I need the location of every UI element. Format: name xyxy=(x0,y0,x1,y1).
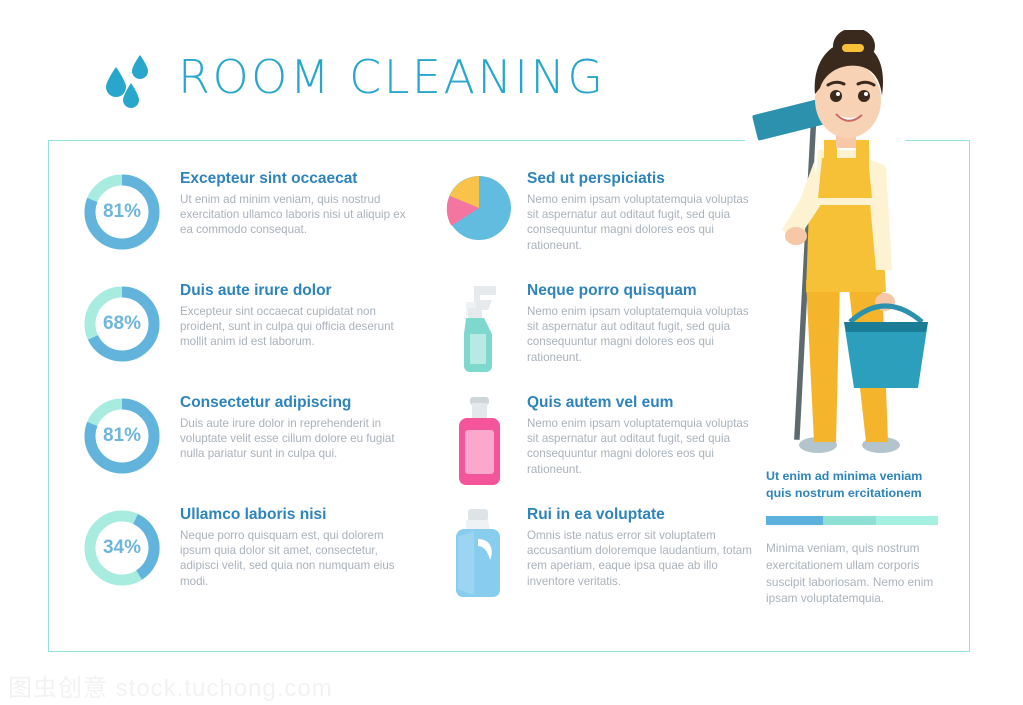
list-item-title: Excepteur sint occaecat xyxy=(180,170,412,188)
water-droplets-icon xyxy=(102,53,158,113)
list-item-description: Ut enim ad minim veniam, quis nostrud ex… xyxy=(180,192,412,238)
list-item-description: Excepteur sint occaecat cupidatat non pr… xyxy=(180,304,412,350)
list-item[interactable]: 34% Ullamco laboris nisi Neque porro qui… xyxy=(80,506,410,618)
list-item-title: Neque porro quisquam xyxy=(527,282,753,300)
list-item-body: Quis autem vel eum Nemo enim ipsam volup… xyxy=(527,394,753,477)
progress-bar xyxy=(766,516,938,525)
list-item-body: Rui in ea voluptate Omnis iste natus err… xyxy=(527,506,753,589)
list-item-description: Nemo enim ipsam voluptatemquia voluptas … xyxy=(527,192,753,253)
list-item-description: Omnis iste natus error sit voluptatem ac… xyxy=(527,528,753,589)
infographic-canvas: ROOM CLEANING 81% Excepteur sint occaeca… xyxy=(0,0,1023,705)
progress-segment-2 xyxy=(823,516,876,525)
donut-percent-value: 81% xyxy=(80,394,164,478)
donut-percent-value: 34% xyxy=(80,506,164,590)
donut-chart-icon: 34% xyxy=(80,506,164,598)
donut-chart-icon: 68% xyxy=(80,282,164,374)
cleaning-woman-with-squeegee-and-bucket-icon xyxy=(740,30,955,460)
list-item[interactable]: 68% Duis aute irure dolor Excepteur sint… xyxy=(80,282,410,394)
list-item[interactable]: Quis autem vel eum Nemo enim ipsam volup… xyxy=(437,394,767,506)
list-item-title: Ullamco laboris nisi xyxy=(180,506,412,524)
donut-percent-value: 81% xyxy=(80,170,164,254)
watermark: 图虫创意 stock.tuchong.com xyxy=(8,668,333,703)
progress-segment-1 xyxy=(766,516,823,525)
list-item-description: Neque porro quisquam est, qui dolorem ip… xyxy=(180,528,412,589)
donut-chart-icon: 81% xyxy=(80,170,164,262)
list-item-title: Sed ut perspiciatis xyxy=(527,170,753,188)
list-item-description: Nemo enim ipsam voluptatemquia voluptas … xyxy=(527,304,753,365)
pie-chart-icon xyxy=(437,170,521,262)
detergent-jug-icon xyxy=(437,506,521,598)
list-item-body: Sed ut perspiciatis Nemo enim ipsam volu… xyxy=(527,170,753,253)
list-item-description: Nemo enim ipsam voluptatemquia voluptas … xyxy=(527,416,753,477)
middle-column: Sed ut perspiciatis Nemo enim ipsam volu… xyxy=(437,170,767,618)
list-item-body: Duis aute irure dolor Excepteur sint occ… xyxy=(180,282,412,350)
list-item-body: Excepteur sint occaecat Ut enim ad minim… xyxy=(180,170,412,238)
list-item-title: Rui in ea voluptate xyxy=(527,506,753,524)
list-item[interactable]: 81% Excepteur sint occaecat Ut enim ad m… xyxy=(80,170,410,282)
list-item[interactable]: Rui in ea voluptate Omnis iste natus err… xyxy=(437,506,767,618)
donut-percent-value: 68% xyxy=(80,282,164,366)
right-panel-heading: Ut enim ad minima veniam quis nostrum er… xyxy=(766,468,946,502)
list-item-description: Duis aute irure dolor in reprehenderit i… xyxy=(180,416,412,462)
list-item[interactable]: Neque porro quisquam Nemo enim ipsam vol… xyxy=(437,282,767,394)
left-column: 81% Excepteur sint occaecat Ut enim ad m… xyxy=(80,170,410,618)
list-item-body: Neque porro quisquam Nemo enim ipsam vol… xyxy=(527,282,753,365)
progress-segment-3 xyxy=(876,516,938,525)
list-item-title: Consectetur adipiscing xyxy=(180,394,412,412)
list-item-body: Consectetur adipiscing Duis aute irure d… xyxy=(180,394,412,462)
list-item[interactable]: 81% Consectetur adipiscing Duis aute iru… xyxy=(80,394,410,506)
right-panel-body: Minima veniam, quis nostrum exercitation… xyxy=(766,540,946,607)
list-item-body: Ullamco laboris nisi Neque porro quisqua… xyxy=(180,506,412,589)
donut-chart-icon: 81% xyxy=(80,394,164,486)
pink-bottle-icon xyxy=(437,394,521,486)
list-item-title: Quis autem vel eum xyxy=(527,394,753,412)
right-panel-text: Ut enim ad minima veniam quis nostrum er… xyxy=(766,468,946,607)
spray-bottle-icon xyxy=(437,282,521,374)
list-item-title: Duis aute irure dolor xyxy=(180,282,412,300)
list-item[interactable]: Sed ut perspiciatis Nemo enim ipsam volu… xyxy=(437,170,767,282)
page-title: ROOM CLEANING xyxy=(178,50,606,104)
